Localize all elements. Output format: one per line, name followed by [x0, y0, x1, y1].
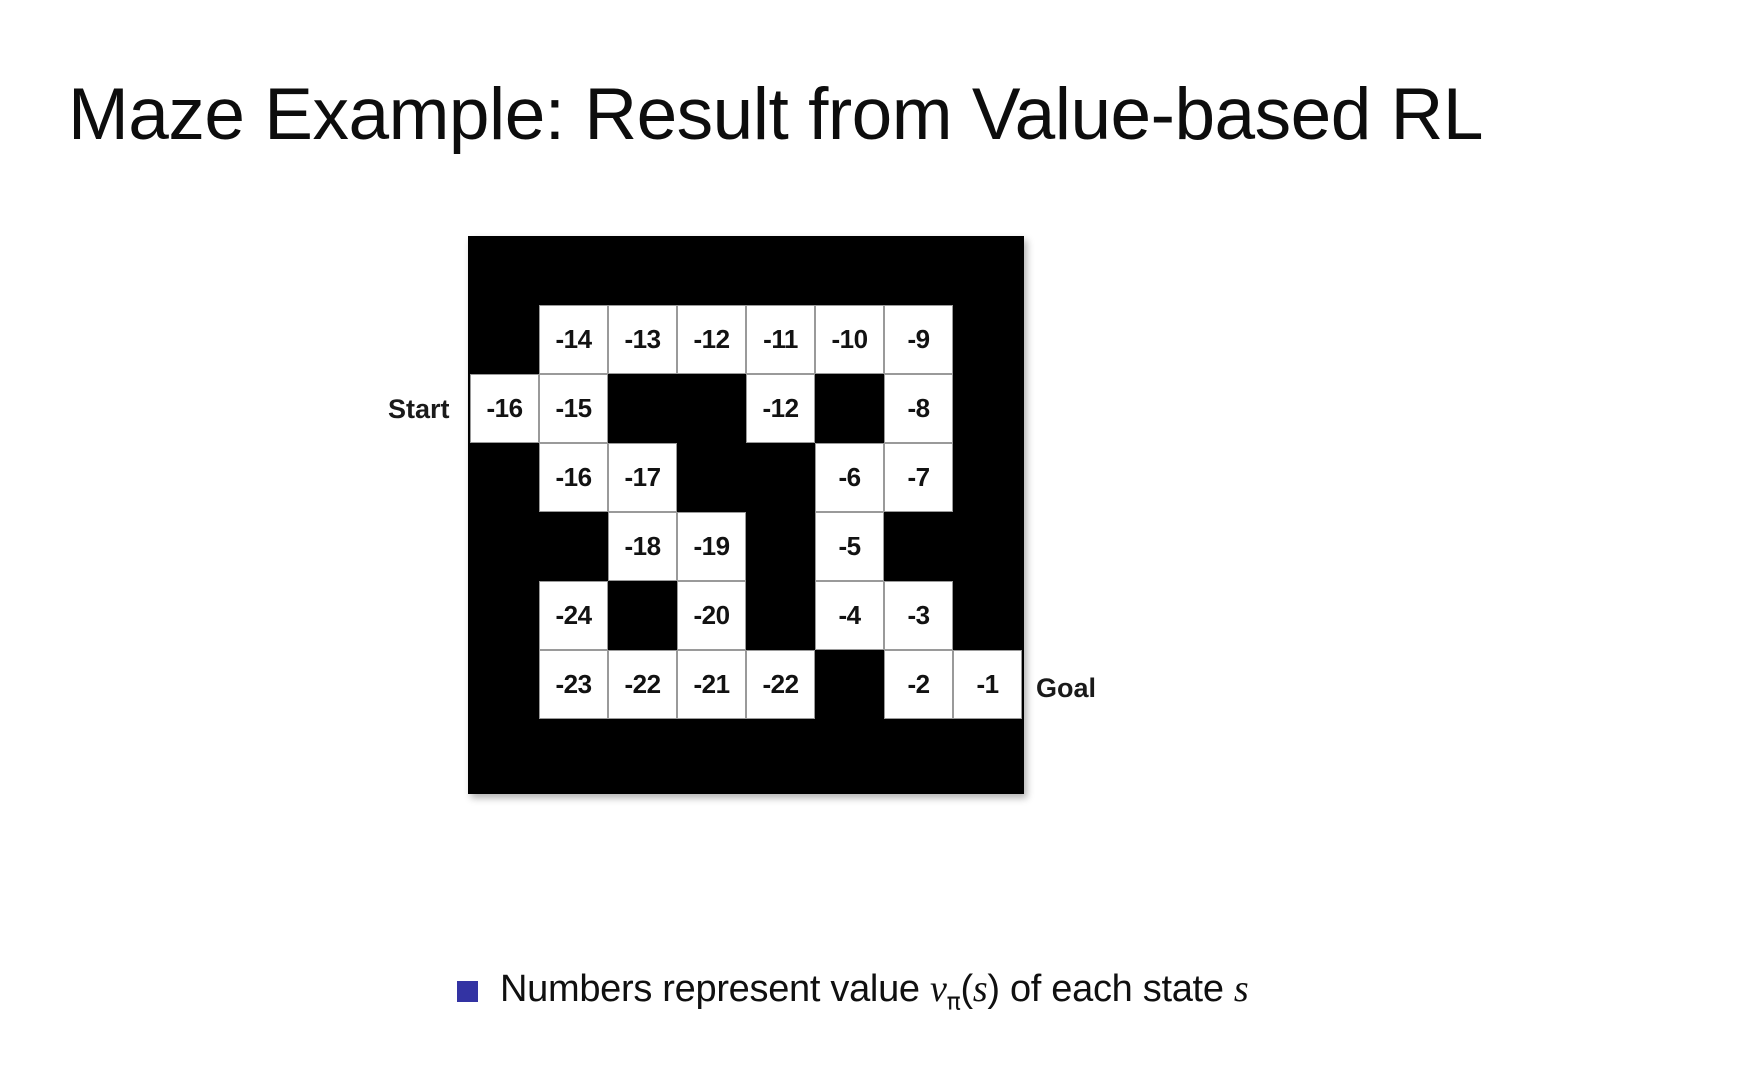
maze-cell: -3: [884, 581, 953, 650]
maze-cell: -23: [539, 650, 608, 719]
maze-cell: -17: [608, 443, 677, 512]
start-label: Start: [388, 394, 450, 425]
goal-label: Goal: [1036, 673, 1096, 704]
maze-cell: -7: [884, 443, 953, 512]
caption-row: Numbers represent value vπ(s) of each st…: [457, 967, 1248, 1016]
maze-cell: -22: [608, 650, 677, 719]
maze-cell: -22: [746, 650, 815, 719]
maze-cell: -18: [608, 512, 677, 581]
maze-cell: -4: [815, 581, 884, 650]
caption-symbol-v: v: [930, 968, 947, 1010]
maze-cell: -19: [677, 512, 746, 581]
maze-cell: -1: [953, 650, 1022, 719]
maze-cell: -5: [815, 512, 884, 581]
maze-cell: -24: [539, 581, 608, 650]
maze-cell: -9: [884, 305, 953, 374]
maze-cell: -8: [884, 374, 953, 443]
maze-figure: Start Goal -14-13-12-11-10-9-16-15-12-8-…: [388, 230, 1188, 810]
maze-cell: -6: [815, 443, 884, 512]
caption-paren-open: (: [960, 968, 972, 1010]
caption-symbol-state: s: [1234, 968, 1249, 1010]
maze-cell: -2: [884, 650, 953, 719]
maze-cell: -15: [539, 374, 608, 443]
maze-cell: -20: [677, 581, 746, 650]
bullet-square-icon: [457, 981, 478, 1002]
maze-cell: -12: [677, 305, 746, 374]
maze-board: -14-13-12-11-10-9-16-15-12-8-16-17-6-7-1…: [468, 236, 1024, 794]
caption-symbol-s: s: [973, 968, 988, 1010]
caption-symbol-pi: π: [947, 988, 961, 1016]
maze-cell: -21: [677, 650, 746, 719]
caption-prefix: Numbers represent value: [500, 968, 930, 1010]
caption-paren-close: ): [987, 968, 999, 1010]
maze-cell: -11: [746, 305, 815, 374]
page-title: Maze Example: Result from Value-based RL: [68, 78, 1483, 151]
maze-cell: -16: [470, 374, 539, 443]
maze-cell: -13: [608, 305, 677, 374]
maze-cell: -14: [539, 305, 608, 374]
maze-cell: -10: [815, 305, 884, 374]
caption-text: Numbers represent value vπ(s) of each st…: [500, 967, 1248, 1016]
maze-cell: -12: [746, 374, 815, 443]
caption-suffix: of each state: [1000, 968, 1234, 1010]
maze-cell: -16: [539, 443, 608, 512]
